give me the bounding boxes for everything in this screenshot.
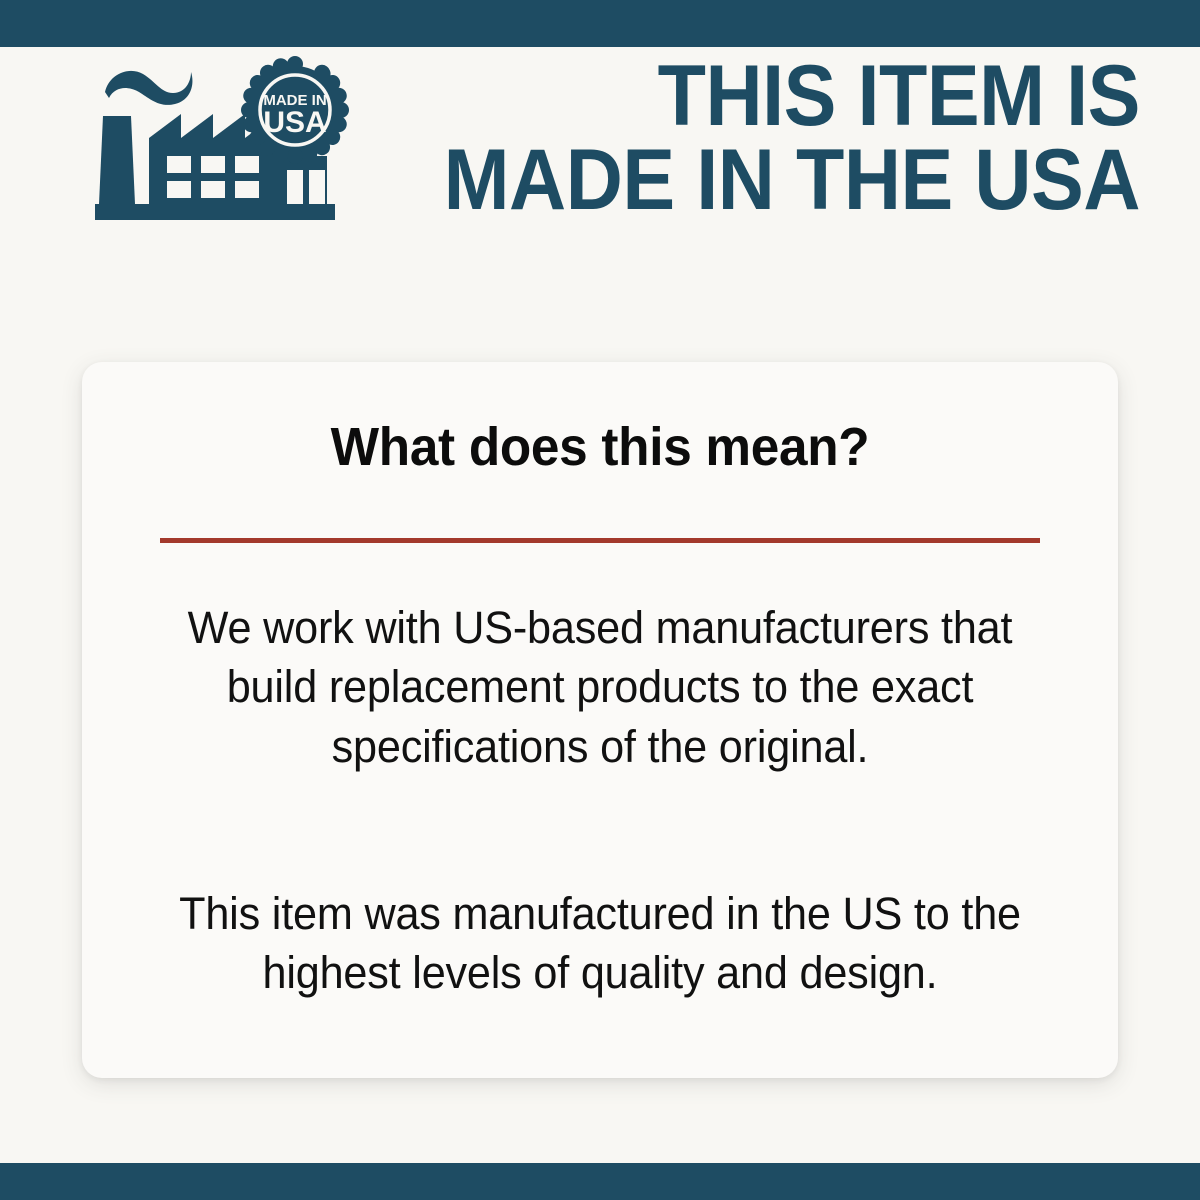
card-heading: What does this mean? — [108, 420, 1092, 474]
card-paragraph-1: We work with US-based manufacturers that… — [141, 598, 1059, 776]
bottom-accent-bar — [0, 1163, 1200, 1200]
card-paragraph-2: This item was manufactured in the US to … — [141, 884, 1059, 1003]
header: MADE IN USA THIS ITEM IS MADE IN THE USA — [95, 52, 1145, 252]
factory-chimney-icon — [99, 116, 135, 204]
page-title: THIS ITEM IS MADE IN THE USA — [350, 52, 1145, 223]
badge-line-2-text: USA — [263, 106, 326, 139]
card-divider — [160, 538, 1040, 543]
factory-base-icon — [95, 204, 335, 220]
page-title-line-1: THIS ITEM IS — [413, 54, 1140, 138]
smoke-icon — [105, 71, 192, 105]
made-in-usa-logo: MADE IN USA — [95, 52, 350, 237]
top-accent-bar — [0, 0, 1200, 47]
info-card: What does this mean? We work with US-bas… — [82, 362, 1118, 1078]
page-title-line-2: MADE IN THE USA — [413, 138, 1140, 222]
